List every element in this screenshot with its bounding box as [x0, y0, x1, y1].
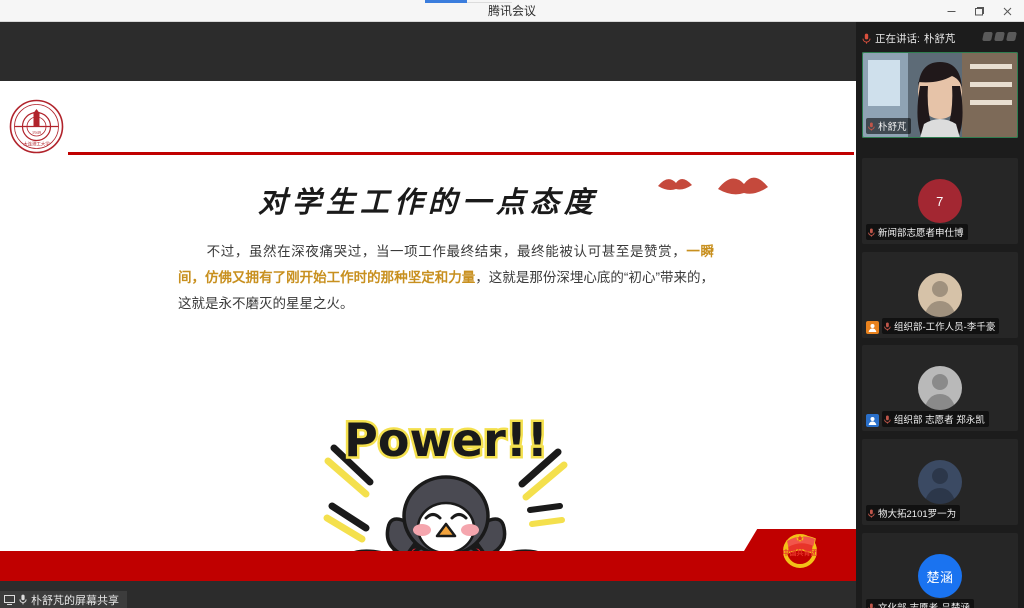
- participant-name-label: 新闻部志愿者申仕博: [866, 224, 968, 240]
- participant-tile[interactable]: 组织部-工作人员-李千豪: [862, 252, 1018, 338]
- microphone-icon: [884, 415, 891, 424]
- tencent-meeting-window: 腾讯会议: [0, 0, 1024, 608]
- cohost-badge-icon: [866, 414, 879, 427]
- microphone-icon: [19, 594, 27, 605]
- participant-name-label: 物大拓2101罗一为: [866, 505, 960, 521]
- participant-tile[interactable]: 朴舒芃: [862, 52, 1018, 138]
- avatar: 楚涵: [918, 554, 962, 598]
- shared-screen-stage[interactable]: 1949 大连理工大学 对学生工作的一点态度 不过，虽然在深夜痛哭过，当一项工作…: [0, 22, 856, 608]
- stage-bottom-strip: [0, 581, 856, 608]
- slide-title: 对学生工作的一点态度: [0, 179, 856, 221]
- power-text: Power!!: [344, 413, 548, 467]
- body-text-part-1: 不过，虽然在深夜痛哭过，当一项工作最终结束，最终能被认可甚至是赞赏，: [206, 244, 686, 259]
- host-badge-icon: [866, 321, 879, 334]
- rail-overflow-icon[interactable]: [983, 32, 1016, 41]
- participant-name-text: 新闻部志愿者申仕博: [878, 225, 964, 239]
- avatar: 7: [918, 179, 962, 223]
- avatar-initials: 楚涵: [926, 567, 953, 586]
- avatar: [918, 366, 962, 410]
- speaking-mic-icon: [862, 33, 871, 44]
- microphone-icon: [884, 322, 891, 331]
- participant-name-text: 朴舒芃: [878, 119, 907, 133]
- participant-name-label: 文化部-志愿者-吕楚涵: [866, 599, 974, 608]
- participant-name-text: 文化部-志愿者-吕楚涵: [878, 600, 970, 608]
- slide-bottom-banner: 中国共青团: [0, 529, 856, 581]
- share-label: 朴舒芃的屏幕共享: [31, 592, 119, 608]
- participant-tile[interactable]: 物大拓2101罗一为: [862, 439, 1018, 525]
- participant-rail[interactable]: 正在讲话: 朴舒芃 朴舒芃7新闻部志愿者申仕博组织部-工作人员-李千豪组织部 志…: [856, 22, 1024, 608]
- slide-body-text: 不过，虽然在深夜痛哭过，当一项工作最终结束，最终能被认可甚至是赞赏，一瞬间，仿佛…: [178, 239, 714, 317]
- close-icon[interactable]: [994, 1, 1020, 21]
- avatar-photo: [918, 273, 962, 317]
- monitor-icon: [4, 595, 15, 605]
- participant-name-text: 组织部-工作人员-李千豪: [894, 319, 995, 333]
- window-controls: [938, 0, 1020, 22]
- communist-youth-league-emblem: 中国共青团: [778, 529, 822, 569]
- avatar-initials: 7: [936, 194, 944, 209]
- avatar: [918, 460, 962, 504]
- svg-text:中国共青团: 中国共青团: [783, 548, 818, 557]
- participant-tile[interactable]: 楚涵文化部-志愿者-吕楚涵: [862, 533, 1018, 608]
- avatar-photo: [918, 366, 962, 410]
- participant-name-label: 组织部-工作人员-李千豪: [882, 318, 999, 334]
- participant-tile[interactable]: 组织部 志愿者 郑永凯: [862, 345, 1018, 431]
- participant-name-text: 物大拓2101罗一为: [878, 506, 956, 520]
- title-bar: 腾讯会议: [0, 0, 1024, 22]
- speaking-prefix: 正在讲话:: [875, 31, 920, 46]
- app-title: 腾讯会议: [0, 0, 1024, 22]
- participant-tile[interactable]: 7新闻部志愿者申仕博: [862, 158, 1018, 244]
- presentation-slide: 1949 大连理工大学 对学生工作的一点态度 不过，虽然在深夜痛哭过，当一项工作…: [0, 81, 856, 581]
- microphone-icon: [868, 509, 875, 518]
- banner-red-bar: [0, 551, 856, 581]
- screen-share-status: 朴舒芃的屏幕共享: [0, 591, 127, 608]
- header-rule: [68, 152, 854, 155]
- maximize-icon[interactable]: [966, 1, 992, 21]
- minimize-icon[interactable]: [938, 1, 964, 21]
- avatar-photo: [918, 460, 962, 504]
- microphone-icon: [868, 603, 875, 608]
- microphone-icon: [868, 228, 875, 237]
- participant-name-label: 组织部 志愿者 郑永凯: [882, 411, 989, 427]
- speaking-name: 朴舒芃: [924, 31, 956, 46]
- participant-name-text: 组织部 志愿者 郑永凯: [894, 412, 985, 426]
- stage-top-strip: [0, 22, 856, 81]
- microphone-icon: [868, 122, 875, 131]
- participant-name-label: 朴舒芃: [866, 118, 911, 134]
- avatar: [918, 273, 962, 317]
